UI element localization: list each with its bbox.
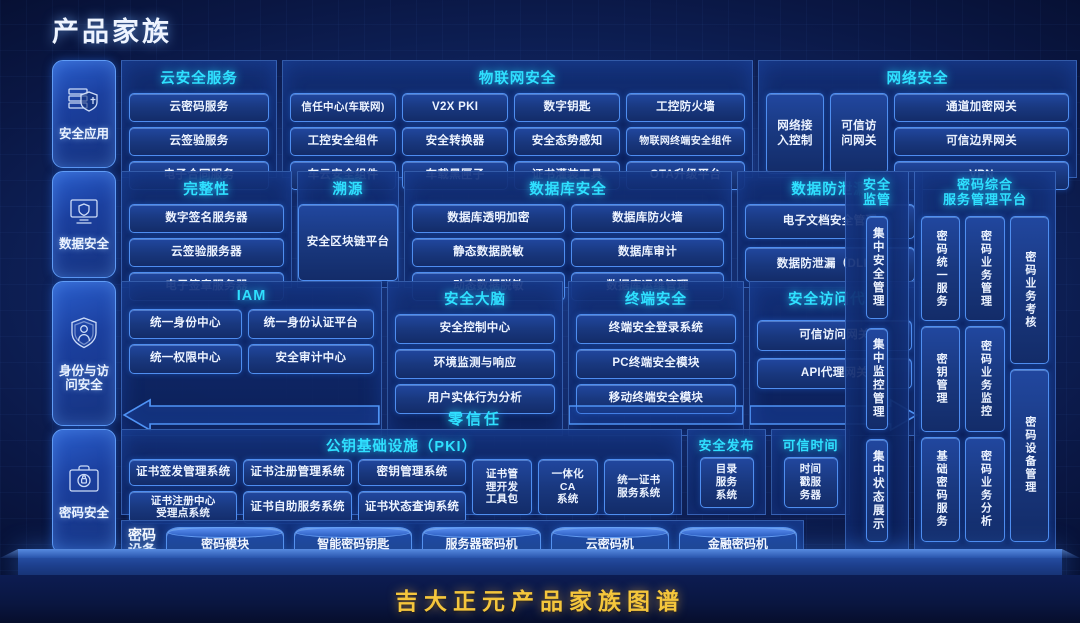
server-shield-icon (67, 86, 101, 121)
sidebar-item-identity-access-security[interactable]: 身份与访问安全 (52, 281, 116, 426)
group-iam: IAM 统一身份中心 统一权限中心 统一身份认证平台 安全审计中心 (121, 281, 382, 436)
group-cloud-security-service: 云安全服务 云密码服务 云签验服务 电子合同服务 (121, 60, 277, 178)
item-chip[interactable]: V2X PKI (402, 93, 508, 122)
item-chip[interactable]: 统一权限中心 (129, 344, 242, 374)
sidebar-label: 安全应用 (59, 127, 109, 141)
group-integrity: 完整性 数字签名服务器 云签验服务器 电子签章服务器 (121, 171, 292, 288)
item-chip[interactable]: 可信访问网关 (830, 93, 888, 174)
zero-trust-label: 零信任 (448, 408, 502, 429)
item-chip[interactable]: 信任中心(车联网) (290, 93, 396, 122)
group-title: 完整性 (183, 178, 230, 199)
item-chip[interactable]: 工控防火墙 (626, 93, 745, 122)
briefcase-lock-icon (67, 463, 101, 500)
item-chip[interactable]: 安全审计中心 (248, 344, 374, 374)
group-pki: 公钥基础设施（PKI） 证书签发管理系统 证书注册中心受理点系统 证书注册管理系… (121, 429, 682, 515)
item-chip[interactable]: 工控安全组件 (290, 127, 396, 156)
zero-trust-arrow-left (122, 398, 381, 432)
sidebar-item-security-application[interactable]: 安全应用 (52, 60, 116, 168)
bottom-banner: 吉大正元产品家族图谱 (0, 575, 1080, 623)
item-chip[interactable]: 证书注册管理系统 (243, 459, 351, 486)
layer-row-data-security: 数据安全 完整性 数字签名服务器 云签验服务器 电子签章服务器 溯源 安全区块链… (52, 171, 923, 276)
right-panel-stack: 安全监管 集中安全管理 集中监控管理 集中状态展示 密码综合服务管理平台 密码统… (845, 171, 1056, 552)
group-title: 云安全服务 (160, 67, 238, 88)
group-security-brain: 安全大脑 安全控制中心 环境监测与响应 用户实体行为分析 零信任 (387, 281, 563, 436)
item-chip[interactable]: 集中监控管理 (866, 328, 888, 431)
item-chip[interactable]: 统一身份认证平台 (248, 309, 374, 339)
item-chip[interactable]: 安全控制中心 (395, 314, 555, 344)
item-chip[interactable]: 通道加密网关 (894, 93, 1069, 122)
panel-crypto-service-platform: 密码综合服务管理平台 密码统一服务 密钥管理 基础密码服务 密码业务管理 密码业… (914, 171, 1056, 552)
item-chip[interactable]: 物联网终端安全组件 (626, 127, 745, 156)
group-title: 可信时间 (782, 435, 838, 454)
item-chip[interactable]: 目录服务系统 (700, 457, 754, 508)
sidebar-item-cryptography-security[interactable]: 密码安全 (52, 429, 116, 554)
group-secure-publish: 安全发布 目录服务系统 (687, 429, 766, 515)
item-chip[interactable]: 环境监测与响应 (395, 349, 555, 379)
group-title: 网络安全 (887, 67, 949, 88)
item-chip[interactable]: 证书管理开发工具包 (472, 459, 532, 515)
sidebar-label: 数据安全 (59, 237, 109, 251)
item-chip[interactable]: 数字签名服务器 (129, 204, 284, 233)
item-chip[interactable]: 密钥管理 (921, 326, 960, 431)
item-chip[interactable]: 密码业务管理 (965, 216, 1004, 321)
item-chip[interactable]: 云密码服务 (129, 93, 269, 122)
item-chip[interactable]: 安全转换器 (402, 127, 508, 156)
item-chip[interactable]: 数字钥匙 (514, 93, 620, 122)
group-title: 物联网安全 (479, 67, 557, 88)
monitor-shield-icon (67, 198, 101, 231)
item-chip[interactable]: 统一身份中心 (129, 309, 242, 339)
sidebar-label: 身份与访问安全 (59, 364, 109, 393)
architecture-diagram: 安全应用 云安全服务 云密码服务 云签验服务 电子合同服务 物联网安全 信任中心… (52, 60, 1028, 552)
page-title: 产品家族 (52, 10, 172, 49)
item-chip[interactable]: 网络接入控制 (766, 93, 824, 174)
group-traceability: 溯源 安全区块链平台 (297, 171, 399, 288)
panel-security-supervision: 安全监管 集中安全管理 集中监控管理 集中状态展示 (845, 171, 909, 552)
group-title: 安全监管 (863, 178, 891, 208)
item-chip[interactable]: 密码业务分析 (965, 437, 1004, 542)
item-chip[interactable]: 云签验服务器 (129, 238, 284, 267)
item-chip[interactable]: 密码设备管理 (1010, 369, 1049, 542)
item-chip[interactable]: 密钥管理系统 (358, 459, 466, 486)
group-endpoint-security: 终端安全 终端安全登录系统 PC终端安全模块 移动终端安全模块 (568, 281, 744, 436)
item-chip[interactable]: 集中安全管理 (866, 216, 888, 319)
item-chip[interactable]: 统一证书服务系统 (604, 459, 674, 515)
banner-title: 吉大正元产品家族图谱 (395, 582, 685, 616)
group-network-security: 网络安全 网络接入控制 可信访问网关 通道加密网关 可信边界网关 VPN (758, 60, 1077, 178)
sidebar-item-data-security[interactable]: 数据安全 (52, 171, 116, 278)
item-chip[interactable]: 终端安全登录系统 (576, 314, 736, 344)
item-chip[interactable]: 密码统一服务 (921, 216, 960, 321)
item-chip[interactable]: 数据库审计 (571, 238, 724, 267)
group-title: 密码综合服务管理平台 (943, 178, 1027, 208)
group-title: 溯源 (333, 178, 364, 199)
layer-row-identity-access-security: 身份与访问安全 IAM 统一身份中心 统一权限中心 统一身份认证平台 安全审计中… (52, 281, 920, 424)
item-chip[interactable]: 数据库防火墙 (571, 204, 724, 233)
item-chip[interactable]: 云签验服务 (129, 127, 269, 156)
item-chip[interactable]: 密码业务考核 (1010, 216, 1049, 364)
item-chip[interactable]: 移动终端安全模块 (576, 384, 736, 414)
item-chip[interactable]: 数据库透明加密 (412, 204, 565, 233)
sidebar-label: 密码安全 (59, 506, 109, 520)
item-chip[interactable]: 安全态势感知 (514, 127, 620, 156)
group-title: 安全发布 (698, 435, 754, 454)
item-chip[interactable]: 密码业务监控 (965, 326, 1004, 431)
group-trusted-time: 可信时间 时间戳服务器 (771, 429, 850, 515)
group-database-security: 数据库安全 数据库透明加密 静态数据脱敏 动态数据脱敏 数据库防火墙 数据库审计… (404, 171, 732, 288)
group-title: IAM (237, 288, 267, 304)
layer-row-security-application: 安全应用 云安全服务 云密码服务 云签验服务 电子合同服务 物联网安全 信任中心… (52, 60, 1077, 166)
item-chip[interactable]: 可信边界网关 (894, 127, 1069, 156)
item-chip[interactable]: PC终端安全模块 (576, 349, 736, 379)
item-chip[interactable]: 一体化CA系统 (538, 459, 598, 515)
item-chip[interactable]: 集中状态展示 (866, 439, 888, 542)
group-title: 公钥基础设施（PKI） (326, 435, 477, 456)
group-title: 终端安全 (625, 288, 687, 309)
item-chip[interactable]: 安全区块链平台 (298, 204, 398, 281)
item-chip[interactable]: 时间戳服务器 (784, 457, 838, 508)
item-chip[interactable]: 基础密码服务 (921, 437, 960, 542)
layer-row-cryptography-security: 密码安全 公钥基础设施（PKI） 证书签发管理系统 证书注册中心受理点系统 证书… (52, 429, 850, 552)
group-iot-security: 物联网安全 信任中心(车联网) 工控安全组件 车云安全组件 V2X PKI 安全… (282, 60, 753, 178)
item-chip[interactable]: 证书签发管理系统 (129, 459, 237, 486)
item-chip[interactable]: 静态数据脱敏 (412, 238, 565, 267)
group-title: 数据库安全 (529, 178, 607, 199)
group-title: 安全大脑 (444, 288, 506, 309)
person-shield-icon (67, 315, 101, 358)
